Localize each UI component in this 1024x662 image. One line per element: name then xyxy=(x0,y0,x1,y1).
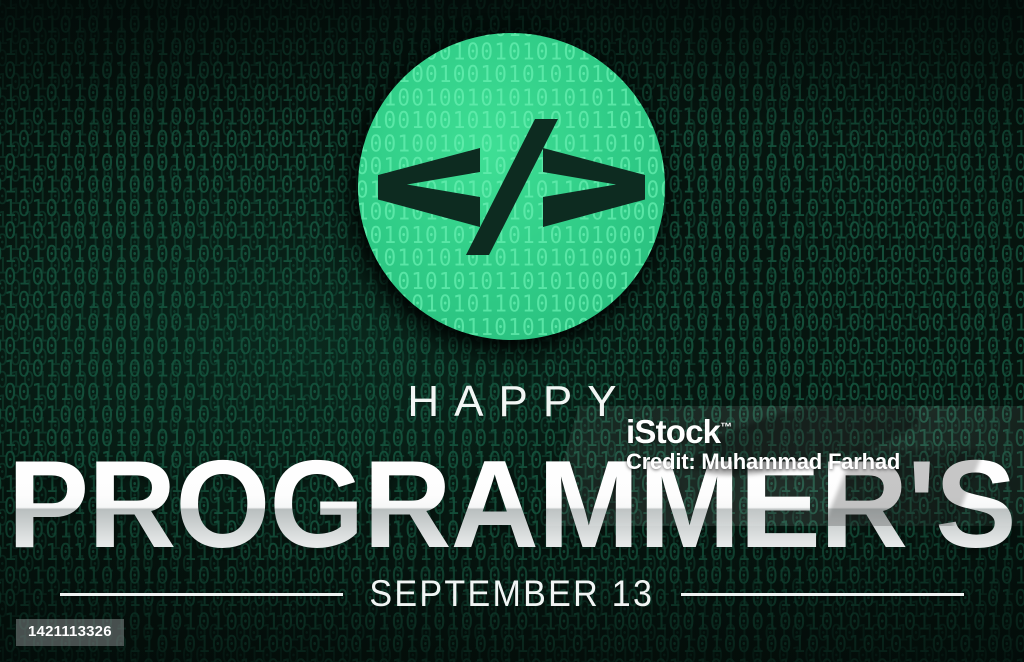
emblem-circle: 010010100100101010101011 100101001001010… xyxy=(358,33,665,340)
istock-wordmark: iStock xyxy=(626,413,720,450)
credit-line: Credit: Muhammad Farhad xyxy=(626,450,900,474)
trademark-symbol: ™ xyxy=(720,420,732,434)
rule-left xyxy=(60,593,343,596)
date-text: SEPTEMBER 13 xyxy=(370,575,655,613)
asset-id-badge: 1421113326 xyxy=(16,619,124,646)
code-brackets-slash-icon xyxy=(358,33,665,340)
date-row: SEPTEMBER 13 xyxy=(0,575,1024,613)
rule-right xyxy=(681,593,964,596)
istock-logo: iStock™ xyxy=(626,411,732,448)
code-emblem: 010010100100101010101011 100101001001010… xyxy=(358,33,665,340)
poster-canvas: 0101011010100010010100100101010101101010… xyxy=(0,0,1024,662)
greeting-text: HAPPY xyxy=(0,380,1024,424)
